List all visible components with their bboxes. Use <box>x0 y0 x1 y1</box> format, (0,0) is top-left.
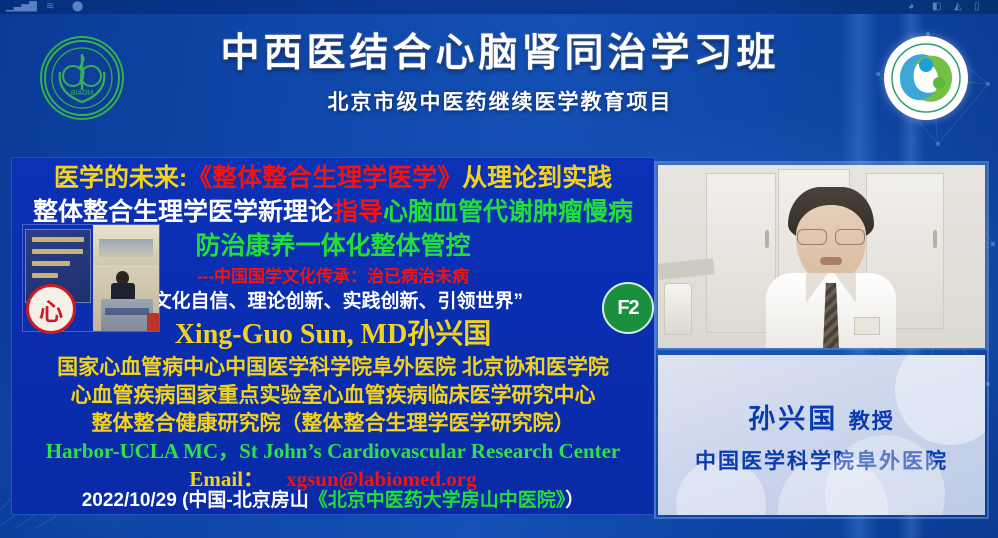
left-logo-text: BIADM <box>71 90 93 97</box>
eye-icon: ◕ <box>908 1 914 13</box>
shirt-collar-right <box>834 273 856 303</box>
battery-icon: ▯ <box>974 1 980 13</box>
venue-text: 《北京中医药大学房山中医院》 <box>309 490 566 511</box>
slide-line1-part3: 从理论到实践 <box>462 164 612 192</box>
page-title: 中西医结合心脑肾同治学习班 <box>150 30 850 78</box>
slide-line2-part2: 指导 <box>333 198 383 226</box>
slide-line1-part2: 《整体整合生理学医学》 <box>187 164 462 192</box>
date-text: 2022/10/29 (中国-北京房山 <box>82 490 309 511</box>
event-banner: BIADM 中西医结合心脑肾同治学习班 北京市级中医药继续医学教育项目 <box>0 14 998 138</box>
slide-line1-part1: 医学的未来: <box>54 164 187 192</box>
cardiovascular-center-emblem: 心 <box>26 284 76 334</box>
photo-backdrop-banner <box>93 225 160 265</box>
speaker-id-badge <box>854 317 880 335</box>
speaker-mouth <box>820 257 842 265</box>
eyeglasses-icon <box>796 229 866 243</box>
date-venue-line: 2022/10/29 (中国-北京房山《北京中医药大学房山中医院》） <box>12 491 654 510</box>
broadcast-screen: ▁▃▅▇ ≋ ⬤ ◕ ◧ ◭ ▯ BIADM 中西医结合心脑肾同治学习班 北京市… <box>0 0 998 538</box>
organizer-right-logo <box>884 36 968 120</box>
date-close-paren: ） <box>565 490 584 511</box>
emblem-red-glyph: 心 <box>39 292 63 327</box>
affiliation-line-3: 整体整合健康研究院（整体整合生理学医学研究院） <box>12 413 654 434</box>
page-subtitle: 北京市级中医药继续医学教育项目 <box>150 86 850 116</box>
affiliation-line-4: Harbor-UCLA MC，St John’s Cardiovascular … <box>12 441 654 462</box>
caption-name: 孙兴国 <box>748 404 838 434</box>
fuwai-hospital-emblem: F2 <box>602 282 654 334</box>
caption-organization: 中国医学科学院阜外医院 <box>658 445 985 475</box>
affiliation-line-2: 心血管疾病国家重点实验室心血管疾病临床医学研究中心 <box>12 385 654 406</box>
location-pin-icon: ⬤ <box>72 1 83 13</box>
photo-podium <box>101 299 153 332</box>
mute-icon: ◭ <box>954 1 962 13</box>
signal-bars-icon: ▁▃▅▇ <box>6 1 37 13</box>
email-value[interactable]: xgsun@labiomed.org <box>286 467 476 491</box>
presentation-slide: 医学的未来:《整体整合生理学医学》从理论到实践 整体整合生理学医学新理论指导心脑… <box>12 158 654 514</box>
caduceus-emblem-icon: BIADM <box>42 38 122 118</box>
background-bottle <box>664 283 692 335</box>
caption-role: 教授 <box>849 410 895 433</box>
hospital-emblem-icon <box>886 38 966 118</box>
slide-line-2: 整体整合生理学医学新理论指导心脑血管代谢肿瘤慢病 <box>12 200 654 225</box>
slide-line-1: 医学的未来:《整体整合生理学医学》从理论到实践 <box>12 166 654 191</box>
slide-line2-part3: 心脑血管代谢肿瘤慢病 <box>383 198 633 226</box>
speaker-video-feed[interactable] <box>658 165 985 348</box>
email-line: Email：xgsun@labiomed.org <box>12 469 654 490</box>
affiliation-line-1: 国家心血管病中心中国医学科学院阜外医院 北京协和医学院 <box>12 357 654 378</box>
wifi-icon: ≋ <box>46 1 54 13</box>
slide-line2-part1: 整体整合生理学医学新理论 <box>33 198 333 226</box>
video-speaker <box>766 187 896 348</box>
emblem-green-text: F2 <box>617 297 638 320</box>
photo-red-object <box>147 313 159 332</box>
email-label: Email： <box>189 467 264 491</box>
speaker-name-plate: 孙兴国 教授 中国医学科学院阜外医院 <box>658 355 985 515</box>
caption-name-row: 孙兴国 教授 <box>658 397 985 436</box>
status-bar: ▁▃▅▇ ≋ ⬤ ◕ ◧ ◭ ▯ <box>0 0 998 14</box>
shirt-collar-left <box>806 273 828 303</box>
organizer-left-logo: BIADM <box>40 36 124 120</box>
share-icon: ◧ <box>932 1 941 13</box>
